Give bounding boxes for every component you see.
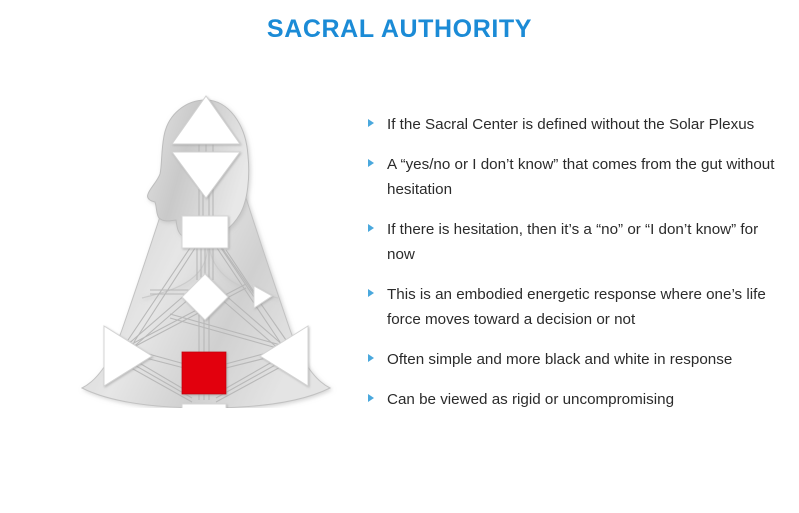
page-title: SACRAL AUTHORITY	[0, 15, 799, 44]
list-item: If there is hesitation, then it’s a “no”…	[366, 217, 778, 267]
triangle-right-icon	[368, 394, 374, 402]
list-item: If the Sacral Center is defined without …	[366, 112, 778, 137]
list-item: Can be viewed as rigid or uncompromising	[366, 387, 778, 412]
triangle-right-icon	[368, 159, 374, 167]
list-item: Often simple and more black and white in…	[366, 347, 778, 372]
list-item: This is an embodied energetic response w…	[366, 282, 778, 332]
list-item-label: If the Sacral Center is defined without …	[387, 112, 778, 137]
triangle-right-icon	[368, 119, 374, 127]
center-sacral	[182, 352, 226, 394]
list-item-label: This is an embodied energetic response w…	[387, 282, 778, 332]
bullet-list: If the Sacral Center is defined without …	[366, 112, 778, 412]
triangle-right-icon	[368, 354, 374, 362]
list-item-label: If there is hesitation, then it’s a “no”…	[387, 217, 778, 267]
bodygraph-illustration	[58, 88, 354, 408]
list-item-label: Can be viewed as rigid or uncompromising	[387, 387, 778, 412]
list-item: A “yes/no or I don’t know” that comes fr…	[366, 152, 778, 202]
center-root	[182, 404, 226, 408]
triangle-right-icon	[368, 289, 374, 297]
list-item-label: Often simple and more black and white in…	[387, 347, 778, 372]
triangle-right-icon	[368, 224, 374, 232]
slide-canvas: SACRAL AUTHORITY	[0, 0, 799, 513]
center-throat	[182, 216, 228, 248]
list-item-label: A “yes/no or I don’t know” that comes fr…	[387, 152, 778, 202]
